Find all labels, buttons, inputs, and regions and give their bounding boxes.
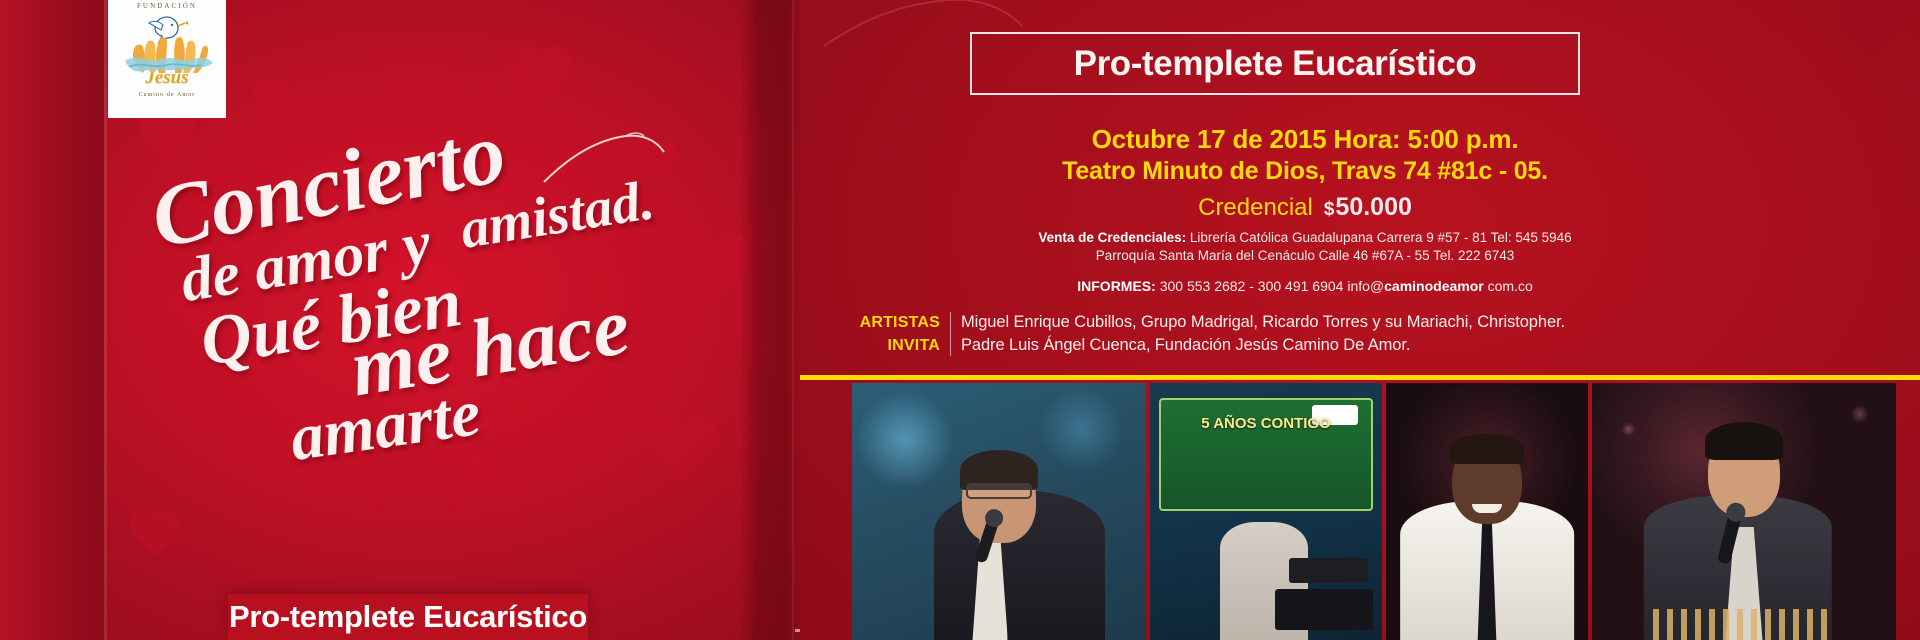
ticket-sales-label: Venta de Credenciales: [1038, 230, 1186, 245]
credential-price: $50.000 [1324, 193, 1412, 222]
event-title-box: Pro-templete Eucarístico [970, 32, 1580, 95]
credential-label: Credencial [1198, 194, 1313, 222]
currency-symbol: $ [1324, 199, 1335, 220]
concert-poster: FUNDACIÓN [0, 0, 1920, 640]
left-banner: Pro-templete Eucarístico [228, 594, 588, 640]
photo-artist-3 [1386, 383, 1588, 640]
contact-info-line: INFORMES: 300 553 2682 - 300 491 6904 in… [800, 276, 1810, 296]
price-amount: 50.000 [1335, 193, 1411, 221]
credits-value-invita: Padre Luis Ángel Cuenca, Fundación Jesús… [961, 336, 1790, 355]
glasses-icon [966, 483, 1032, 499]
foundation-logo: FUNDACIÓN [108, 0, 226, 118]
contact-email-prefix: info@ [1347, 278, 1384, 294]
keyboard-stand-icon [1275, 589, 1372, 630]
right-panel: Pro-templete Eucarístico Octubre 17 de 2… [800, 0, 1920, 640]
dove-icon [149, 17, 188, 42]
event-title: Pro-templete Eucarístico [1074, 44, 1477, 84]
keyboard-icon [1289, 558, 1368, 584]
logo-tagline-text: Camino de Amor [139, 92, 196, 98]
credits-block: ARTISTAS Miguel Enrique Cubillos, Grupo … [830, 312, 1790, 356]
credits-divider [950, 312, 951, 356]
yellow-divider-rule [800, 375, 1920, 380]
ticket-sales-line-2: Parroquía Santa María del Cenáculo Calle… [800, 246, 1810, 266]
ticket-sales-venue-1: Librería Católica Guadalupana Carrera 9 … [1190, 230, 1572, 245]
photo-artist-1 [852, 383, 1146, 640]
panel-fold-line [792, 0, 794, 640]
credits-label-invita: INVITA [830, 337, 940, 355]
ticket-sales-venue-2: Parroquía Santa María del Cenáculo Calle… [1096, 248, 1515, 263]
photo-artist-2: 5 AÑOS CONTIGO [1150, 383, 1382, 640]
logo-artwork [115, 11, 219, 77]
decorative-heart [1842, 0, 1907, 62]
credential-price-row: Credencial $50.000 [800, 193, 1810, 222]
headline-script-block: Concierto amistad. de amor y Qué bien me… [150, 135, 840, 465]
contact-email-tld: com.co [1488, 278, 1533, 294]
event-venue: Teatro Minuto de Dios, Travs 74 #81c - 0… [800, 157, 1810, 186]
cupped-hands-icon [125, 37, 213, 73]
credits-label-artistas: ARTISTAS [830, 314, 940, 332]
event-datetime: Octubre 17 de 2015 Hora: 5:00 p.m. [800, 124, 1810, 155]
photo-artist-4 [1592, 383, 1896, 640]
credits-value-artistas: Miguel Enrique Cubillos, Grupo Madrigal,… [961, 313, 1790, 332]
headline-line-6: amarte [286, 375, 485, 477]
logo-fundacion-text: FUNDACIÓN [137, 2, 197, 10]
left-edge-divider [104, 0, 107, 640]
stage-banner-text: 5 AÑOS CONTIGO [1161, 416, 1370, 433]
artist-photo-strip: 5 AÑOS CONTIGO [852, 383, 1920, 640]
informes-label: INFORMES: [1077, 278, 1156, 294]
stage-banner: 5 AÑOS CONTIGO [1159, 398, 1372, 511]
contact-phones: 300 553 2682 - 300 491 6904 [1160, 278, 1344, 294]
left-banner-text: Pro-templete Eucarístico [229, 599, 587, 635]
left-edge-strip [0, 0, 104, 640]
dove-and-hands-icon [115, 11, 219, 77]
contact-email-domain: caminodeamor [1384, 278, 1484, 294]
ticket-sales-line-1: Venta de Credenciales: Librería Católica… [800, 228, 1810, 248]
